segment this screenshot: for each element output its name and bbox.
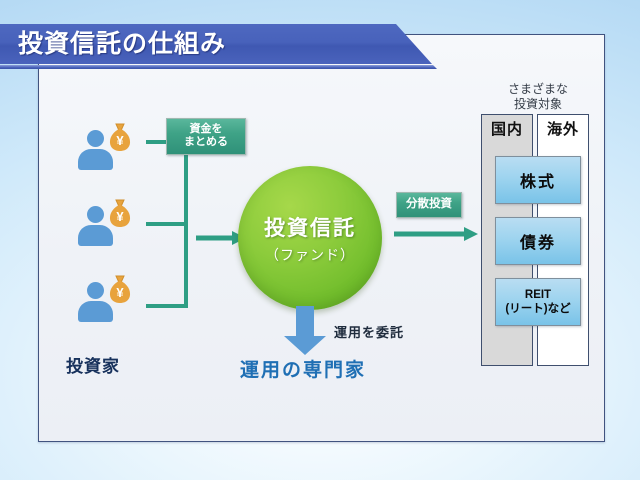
column-overseas-label: 海外 [538,118,588,139]
asset-label-1: 債券 [520,229,556,253]
person-body [78,301,113,322]
investor-2: ¥ [76,198,138,246]
bracket-middle [146,222,188,226]
money-bag-yen-icon: ¥ [106,122,134,152]
manager-label: 運用の専門家 [240,355,366,382]
targets-title-line1: さまざまな [474,82,602,97]
investor-1: ¥ [76,122,138,170]
asset-box-bond: 債券 [495,217,581,265]
asset-label-2b: (リート)など [505,302,570,316]
fund-circle: 投資信託 （ファンド） [238,166,382,310]
asset-box-reit: REIT (リート)など [495,278,581,326]
svg-text:¥: ¥ [116,133,124,148]
delegate-arrow-icon [282,306,328,356]
asset-box-equity: 株式 [495,156,581,204]
targets-title-line2: 投資対象 [474,97,602,112]
person-body [78,225,113,246]
svg-text:¥: ¥ [116,285,124,300]
column-domestic-label: 国内 [482,118,532,139]
money-bag-yen-icon: ¥ [106,274,134,304]
fund-subtitle: （ファンド） [265,245,355,265]
bracket-bottom [146,304,188,308]
funds-bracket [146,140,208,308]
investors-label: 投資家 [66,352,120,377]
delegate-label: 運用を委託 [334,322,404,341]
asset-label-0: 株式 [520,168,556,192]
investor-3: ¥ [76,274,138,322]
asset-label-2a: REIT [525,288,551,302]
person-head [87,282,104,299]
slide-canvas: 投資信託の仕組み ¥ ¥ [0,0,640,480]
page-title: 投資信託の仕組み [18,24,226,64]
diversify-label: 分散投資 [396,192,462,218]
collect-label-line1: 資金を [167,123,245,136]
person-head [87,130,104,147]
person-body [78,149,113,170]
money-bag-yen-icon: ¥ [106,198,134,228]
targets-title: さまざまな 投資対象 [474,82,602,112]
fund-title: 投資信託 [264,212,356,242]
person-head [87,206,104,223]
collect-funds-label: 資金を まとめる [166,118,246,155]
svg-text:¥: ¥ [116,209,124,224]
banner-underline [0,65,437,69]
collect-label-line2: まとめる [167,136,245,149]
diversify-arrow-icon [394,226,480,242]
